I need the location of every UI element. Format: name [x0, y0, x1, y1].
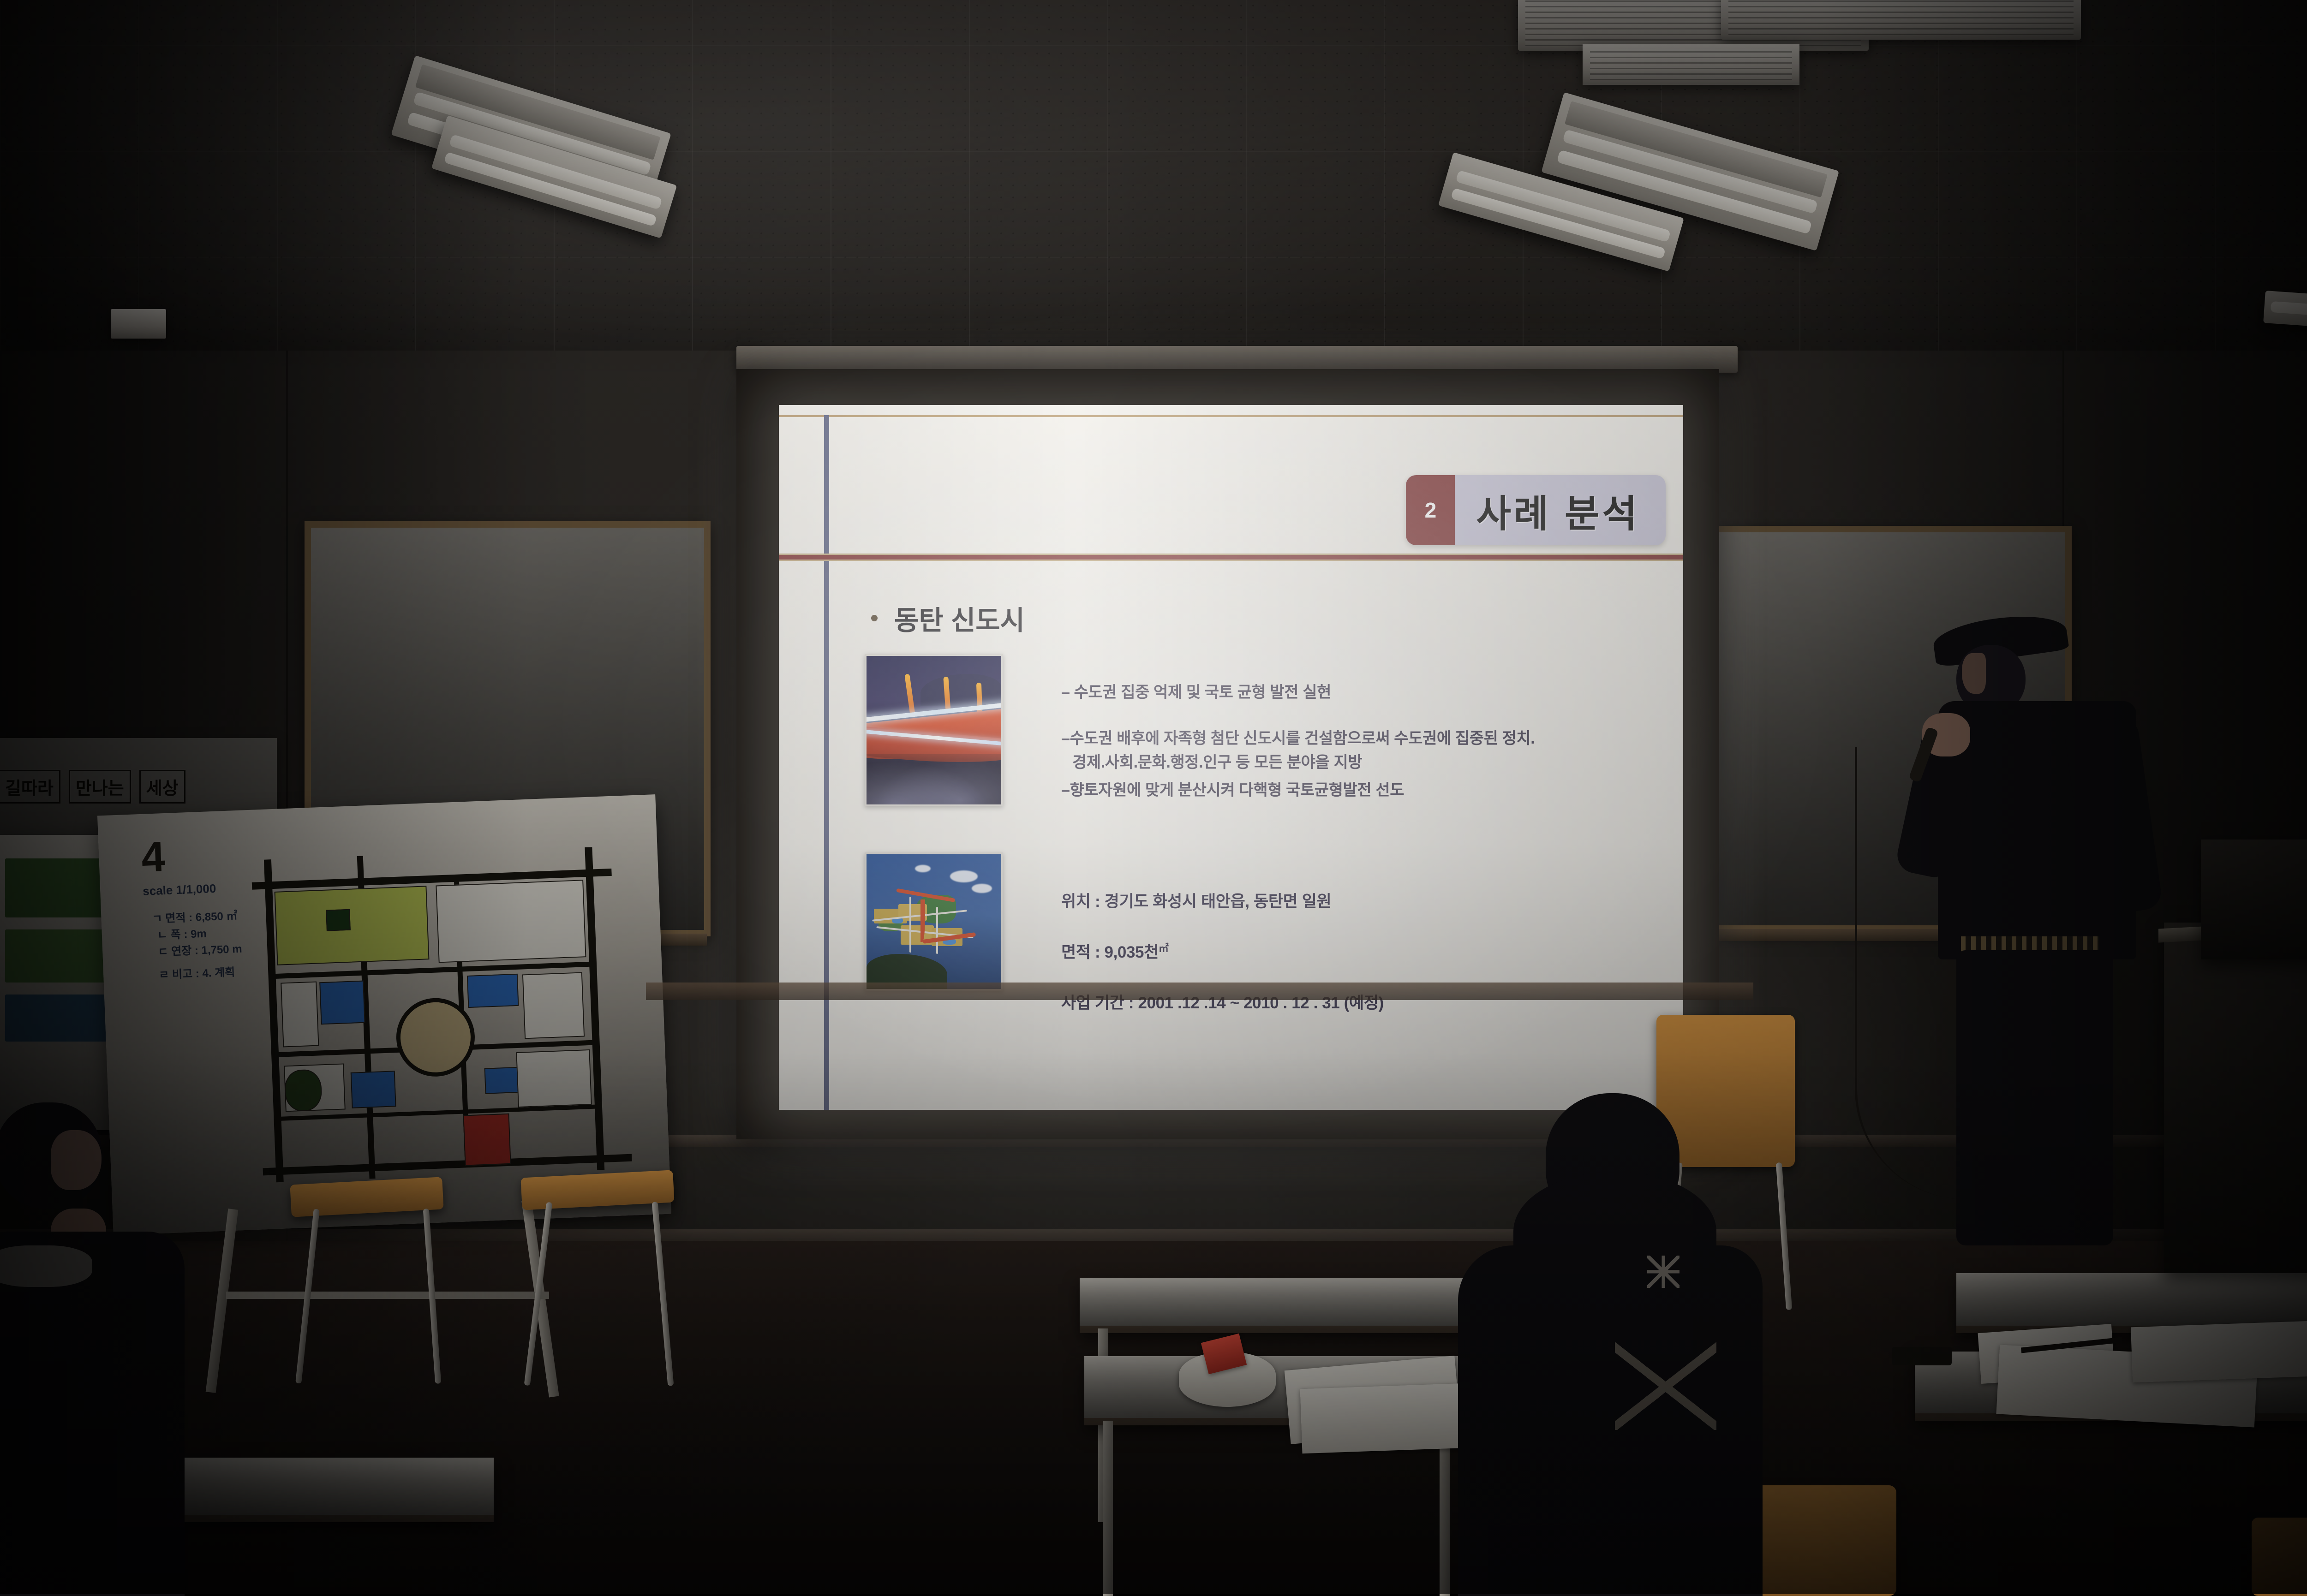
slide-section-title: 사례 분석: [1455, 475, 1666, 545]
slide-bullet-heading: 동탄 신도시: [871, 599, 1025, 637]
info-label-area: 면적: [1061, 943, 1091, 961]
slide-info-location: 위치 : 경기도 화성시 태안읍, 동탄면 일원: [1061, 888, 1331, 912]
lecture-room-scene: 2 사례 분석 동탄 신도시: [0, 0, 2307, 1594]
front-wall-ledge: [646, 983, 1753, 1000]
bridge-foreground-trees: [867, 754, 1001, 804]
banner-chip-2: 세상: [139, 770, 185, 804]
microphone-cable: [1855, 747, 1975, 1199]
projected-slide-surface: 2 사례 분석 동탄 신도시: [779, 405, 1683, 1110]
slide-top-accent-line: [779, 415, 1683, 417]
slide-header-chip: 2 사례 분석: [1406, 475, 1666, 545]
desk-leg: [1103, 1421, 1113, 1596]
easel-crossbar: [226, 1292, 549, 1299]
desk-far-left: [152, 1458, 494, 1522]
presenter-belt-pattern: [1961, 936, 2099, 952]
slide-body-line-3: 경제.사회.문화.행정.인구 등 모든 분야을 지방: [1072, 752, 1362, 774]
papers-on-desk-right: [2131, 1321, 2307, 1383]
vent-slats: [1590, 49, 1792, 80]
slide-horizontal-rule: [779, 554, 1683, 561]
audience-front-jacket-graphic: [1615, 1333, 1716, 1430]
ceiling: [0, 0, 2307, 364]
air-conditioner-vent-right: [1721, 0, 2081, 40]
presenter-legs: [1956, 950, 2113, 1245]
bullet-dot-icon: [871, 615, 878, 621]
slide-body-line-4: –향토자원에 맞게 분산시켜 다핵형 국토균형발전 선도: [1061, 780, 1404, 801]
info-separator: :: [1095, 943, 1105, 961]
audience-member-left: [0, 1093, 194, 1596]
aerial-cloud: [950, 870, 978, 882]
slide-section-number: 2: [1406, 475, 1455, 545]
equipment-cabinet: [2201, 840, 2307, 959]
slide-vertical-accent-line: [824, 415, 829, 1110]
audience-front-shoulder-emblem: [1647, 1256, 1679, 1288]
audience-member-front: [1430, 1093, 1763, 1596]
slide-body-line-2: –수도권 배후에 자족형 첨단 신도시를 건설함으로써 수도권에 집중된 정치.: [1061, 728, 1535, 750]
audience-front-body: [1458, 1245, 1763, 1596]
info-separator: :: [1095, 893, 1105, 911]
presentation-slide: 2 사례 분석 동탄 신도시: [779, 405, 1683, 1110]
slide-body-line-1: – 수도권 집중 억제 및 국토 균형 발전 실현: [1061, 682, 1331, 703]
slide-image-bridge-night: [865, 654, 1003, 806]
banner-chip-0: 길따라: [0, 770, 60, 804]
vent-slats: [1728, 0, 2074, 35]
banner-chip-1: 만나는: [69, 770, 131, 804]
slide-image-aerial-masterplan: [865, 852, 1003, 991]
ceiling-speaker-box: [111, 309, 166, 339]
chair-back-far-right: [2252, 1518, 2307, 1596]
presenter-face: [1962, 653, 1986, 694]
info-value-area: 9,035천: [1105, 943, 1159, 961]
info-unit-area: ㎡: [1159, 942, 1169, 954]
remote-on-desk: [1892, 1347, 1952, 1365]
desk-shading: [152, 1458, 494, 1522]
projection-screen-assembly: 2 사례 분석 동탄 신도시: [736, 355, 1738, 1139]
slide-info-area: 면적 : 9,035천㎡: [1061, 939, 1169, 963]
info-value-location: 경기도 화성시 태안읍, 동탄면 일원: [1105, 893, 1332, 911]
ceiling-diffuser-panel: [1583, 44, 1799, 85]
aerial-road: [936, 907, 938, 953]
ceiling-shading: [0, 0, 2307, 364]
audience-left-face: [51, 1130, 102, 1190]
info-label-location: 위치: [1061, 893, 1091, 911]
bullet-heading-text: 동탄 신도시: [894, 599, 1025, 637]
audience-left-collar: [0, 1245, 92, 1287]
aerial-road: [909, 897, 911, 953]
podium: [2164, 923, 2307, 1273]
